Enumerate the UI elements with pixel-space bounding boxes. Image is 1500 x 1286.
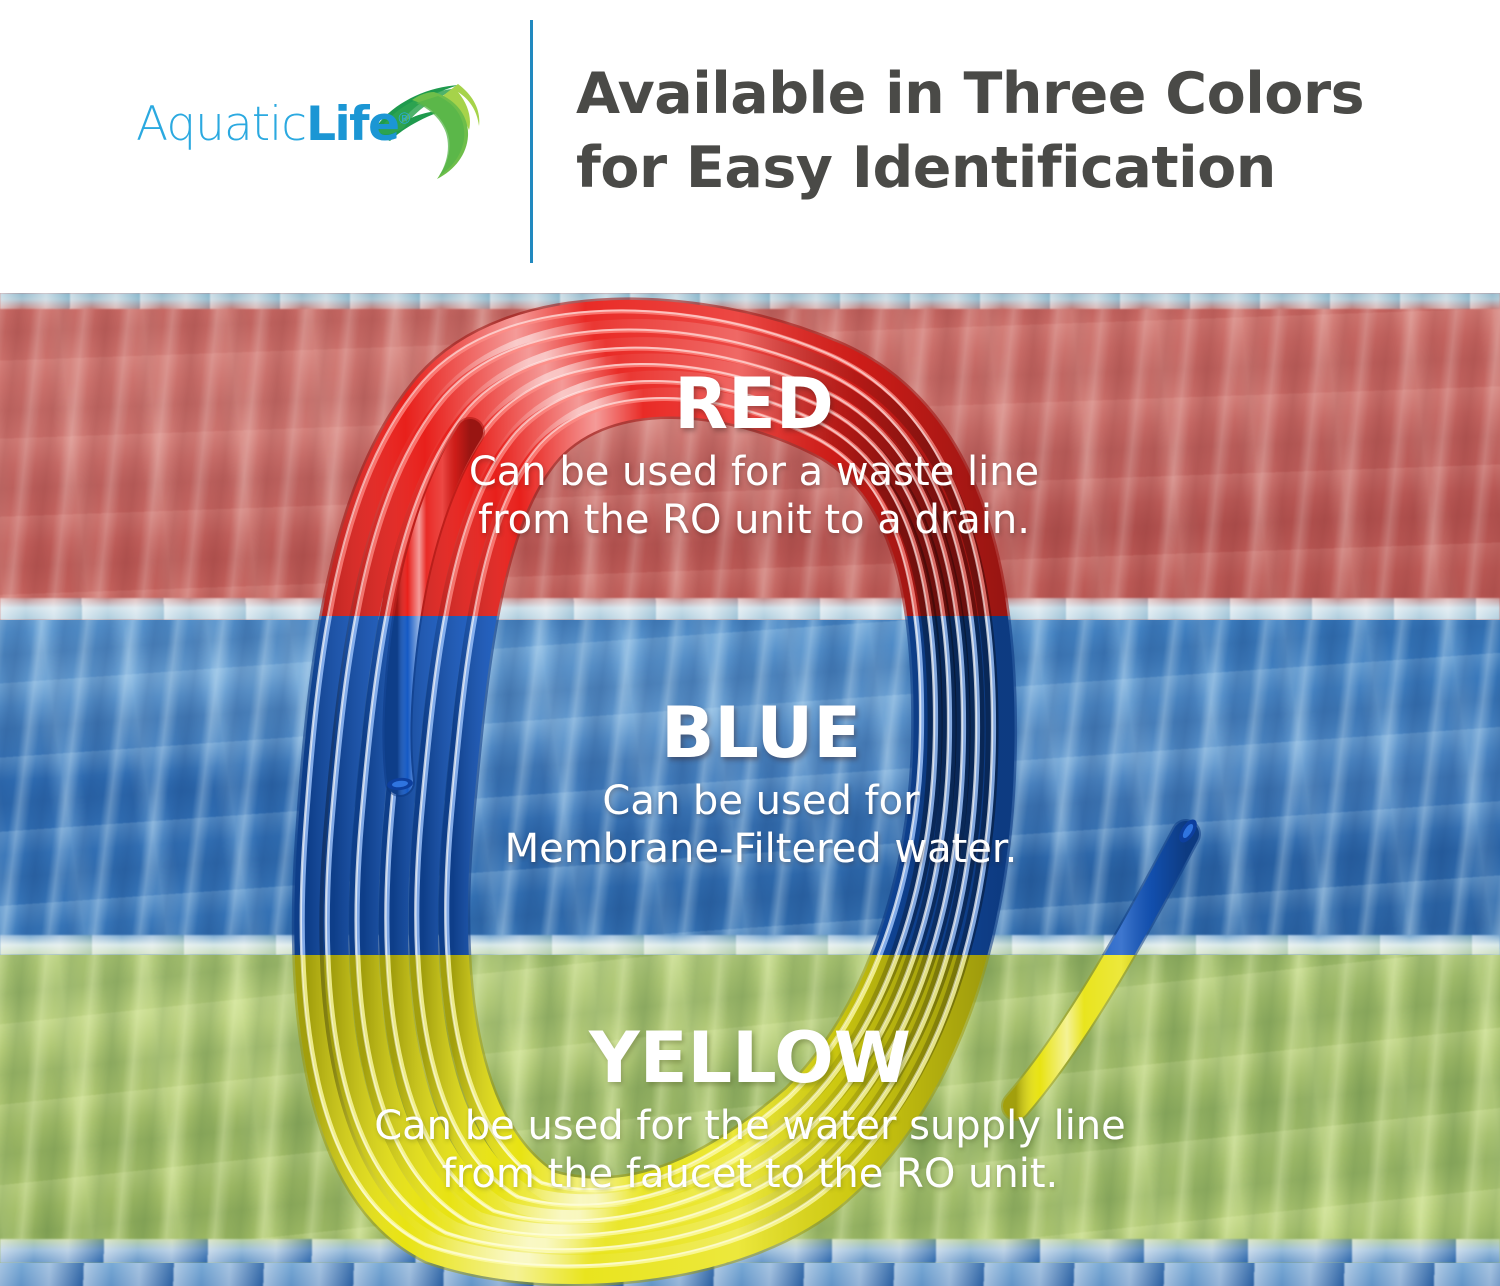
color-label-red: RED Can be used for a waste line from th… [404, 368, 1104, 544]
color-desc-blue-line-2: Membrane-Filtered water. [456, 825, 1066, 873]
color-label-yellow: YELLOW Can be used for the water supply … [310, 1022, 1190, 1198]
logo-text-aquatic: Aquatic [136, 97, 306, 152]
headline-line-1: Available in Three Colors [576, 61, 1364, 127]
page-title: Available in Three Colors for Easy Ident… [576, 57, 1436, 205]
color-description-blue: Can be used for Membrane-Filtered water. [456, 777, 1066, 873]
color-title-yellow: YELLOW [310, 1022, 1190, 1094]
color-description-red: Can be used for a waste line from the RO… [404, 448, 1104, 544]
color-title-red: RED [404, 368, 1104, 440]
color-desc-yellow-line-1: Can be used for the water supply line [310, 1102, 1190, 1150]
color-desc-red-line-2: from the RO unit to a drain. [404, 496, 1104, 544]
color-desc-red-line-1: Can be used for a waste line [404, 448, 1104, 496]
header-divider [530, 20, 533, 263]
brand-logo: AquaticLife® [128, 78, 488, 188]
color-desc-blue-line-1: Can be used for [456, 777, 1066, 825]
registered-trademark-icon: ® [398, 110, 410, 127]
color-title-blue: BLUE [456, 697, 1066, 769]
color-label-blue: BLUE Can be used for Membrane-Filtered w… [456, 697, 1066, 873]
logo-text-life: Life [306, 97, 398, 152]
color-desc-yellow-line-2: from the faucet to the RO unit. [310, 1150, 1190, 1198]
product-feature-image: AquaticLife® Available in Three Colors f… [0, 0, 1500, 1286]
logo-wordmark: AquaticLife® [136, 100, 410, 148]
headline-line-2: for Easy Identification [576, 131, 1436, 205]
color-description-yellow: Can be used for the water supply line fr… [310, 1102, 1190, 1198]
header-bar: AquaticLife® Available in Three Colors f… [0, 0, 1500, 293]
